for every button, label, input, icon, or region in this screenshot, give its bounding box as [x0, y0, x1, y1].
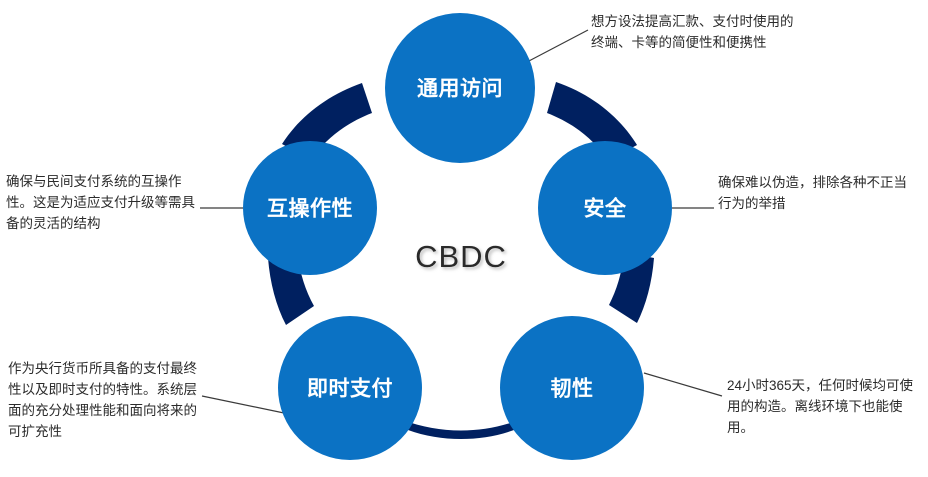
node-label-resilience: 韧性 — [551, 377, 594, 401]
annotation-universal-access: 想方设法提高汇款、支付时使用的终端、卡等的简便性和便携性 — [591, 11, 806, 53]
nodes: 通用访问 安全 韧性 即时支付 互操作性 — [243, 13, 672, 460]
leader-line-resilience — [644, 373, 722, 396]
leader-line-instant-payment — [202, 396, 284, 413]
annotation-instant-payment: 作为央行货币所具备的支付最终性以及即时支付的特性。系统层面的充分处理性能和面向将… — [8, 358, 198, 442]
node-label-interoperability: 互操作性 — [267, 197, 353, 221]
connector-arc-instant-payment-to-resilience — [403, 420, 519, 439]
annotation-security: 确保难以伪造，排除各种不正当行为的举措 — [718, 172, 918, 214]
annotation-resilience: 24小时365天，任何时候均可使用的构造。离线环境下也能使用。 — [727, 375, 923, 438]
diagram-canvas: 通用访问 安全 韧性 即时支付 互操作性 CBDC 想方设法提高汇款、支付时使用… — [0, 0, 928, 477]
node-label-universal-access: 通用访问 — [417, 78, 503, 101]
node-label-security: 安全 — [584, 197, 627, 221]
node-interoperability[interactable]: 互操作性 — [243, 141, 377, 275]
annotation-interoperability: 确保与民间支付系统的互操作性。这是为适应支付升级等需具备的灵活的结构 — [6, 171, 196, 234]
node-label-instant-payment: 即时支付 — [307, 378, 393, 401]
node-resilience[interactable]: 韧性 — [500, 316, 644, 460]
node-security[interactable]: 安全 — [538, 141, 672, 275]
node-universal-access[interactable]: 通用访问 — [385, 13, 535, 163]
leader-line-universal-access — [527, 30, 588, 62]
node-instant-payment[interactable]: 即时支付 — [278, 316, 422, 460]
center-title: CBDC — [415, 239, 507, 274]
